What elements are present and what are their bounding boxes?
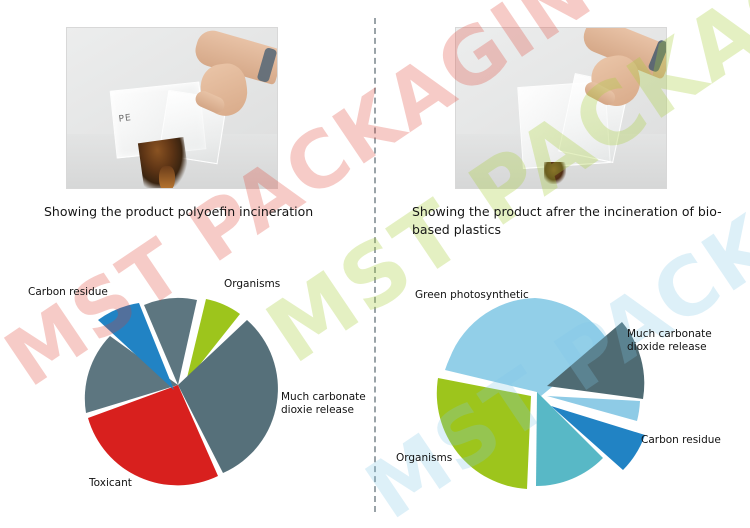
pie-label-carbon-residue-left: Carbon residue	[28, 286, 108, 299]
photo-bio-based-incineration	[455, 27, 667, 189]
caption-left: Showing the product polyoefin incinerati…	[44, 203, 364, 221]
pie-label-much-carbonate-dioxie-release-left: Much carbonate dioxie release	[281, 391, 367, 418]
pie-label-green-photosynthetic: Green photosynthetic	[415, 289, 529, 302]
pie-slices-left	[85, 298, 278, 485]
pie-slices-right	[437, 298, 645, 489]
pie-label-carbon-residue-right: Carbon residue	[641, 434, 721, 447]
pie-label-toxicant-left: Toxicant	[89, 477, 132, 490]
photo-polyolefin-incineration: PE	[66, 27, 278, 189]
slice-organisms-right[interactable]	[437, 378, 531, 489]
caption-right: Showing the product afrer the incinerati…	[412, 203, 732, 239]
burn-mark	[544, 162, 566, 184]
pie-label-much-carbonate-dioxide-release-right: Much carbonate dioxide release	[627, 328, 719, 355]
burn-drip	[159, 166, 175, 189]
pie-label-organisms-right: Organisms	[396, 452, 452, 465]
page-root: PE Showing the product polyoefin inciner…	[0, 0, 750, 528]
pie-label-organisms-left: Organisms	[224, 278, 280, 291]
